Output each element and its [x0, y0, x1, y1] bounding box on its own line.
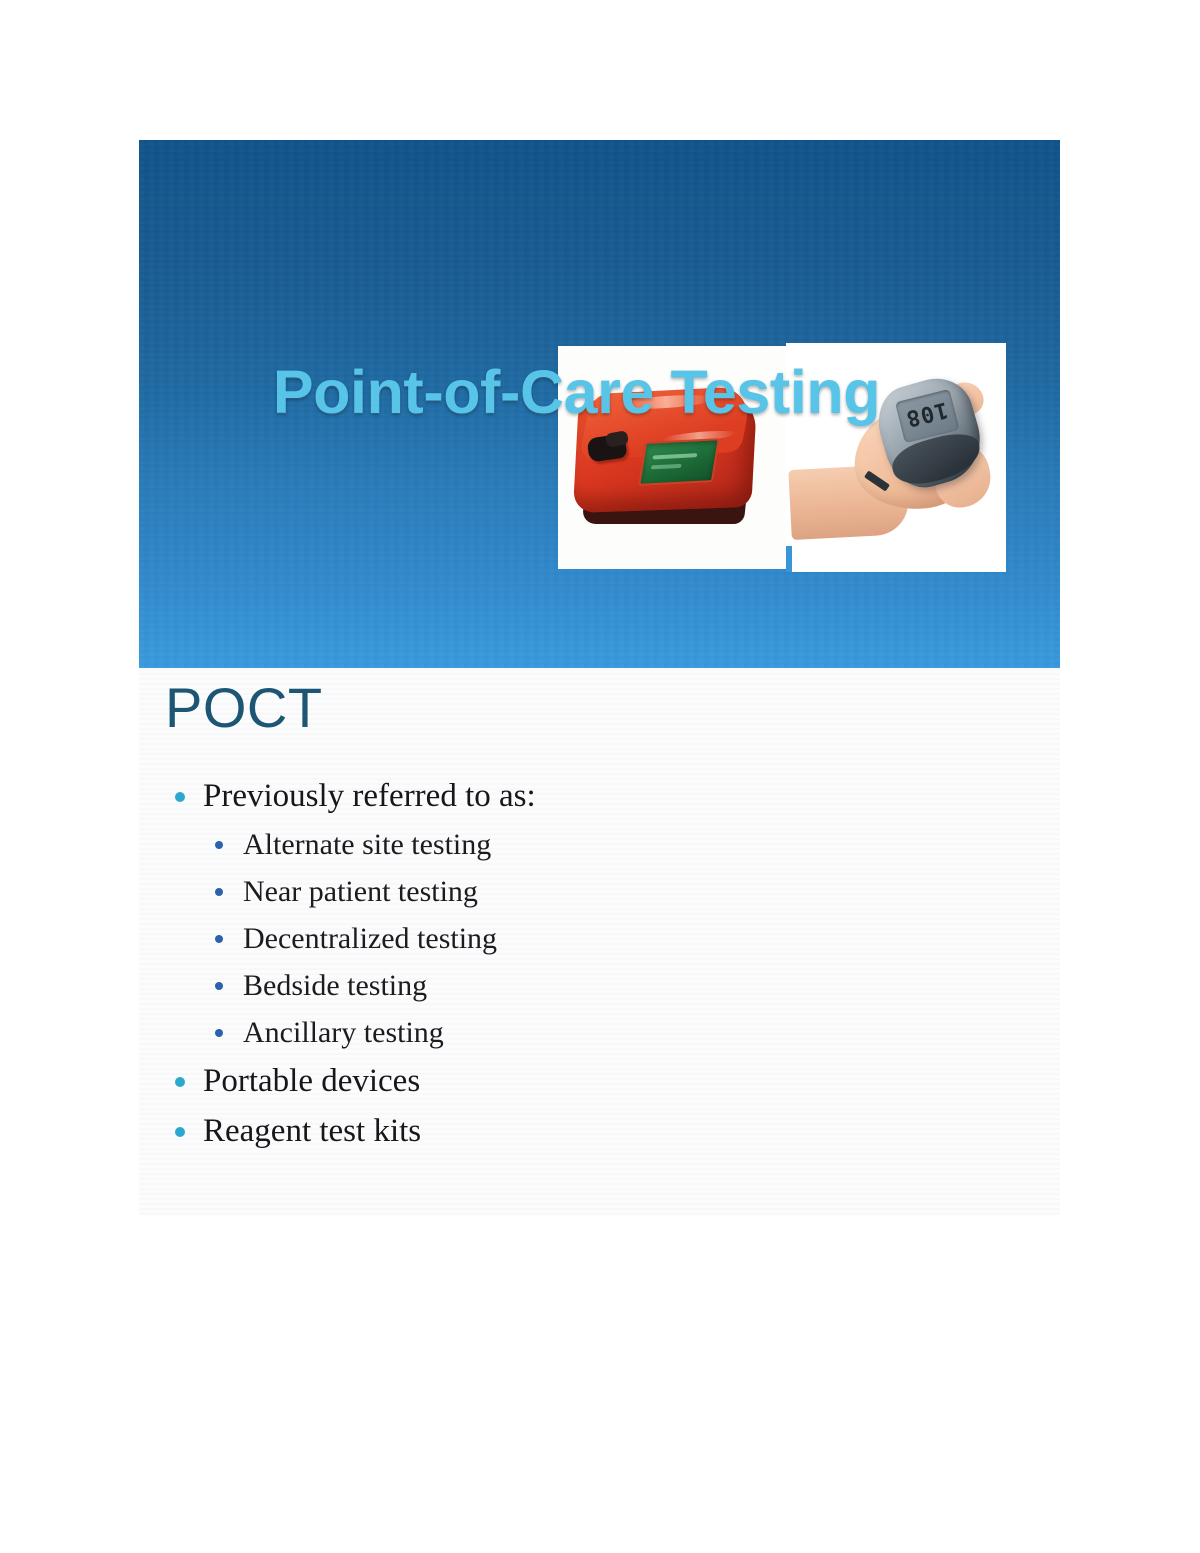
list-item: Previously referred to as:: [165, 771, 1025, 821]
sub-bullet-dot-icon: [215, 982, 223, 990]
list-item-label: Bedside testing: [243, 969, 427, 1002]
bullet-dot-icon: [175, 792, 185, 802]
list-item-label: Near patient testing: [243, 875, 478, 908]
slide: Point-of-Care Testing: [139, 140, 1060, 1215]
slide-body: POCT Previously referred to as: Alternat…: [139, 668, 1060, 1215]
list-item: Near patient testing: [165, 868, 1025, 915]
list-item: Alternate site testing: [165, 821, 1025, 868]
analyzer-lcd-screen: [638, 438, 720, 486]
slide-title: Point-of-Care Testing: [139, 362, 1060, 423]
slide-banner: Point-of-Care Testing: [139, 140, 1060, 668]
list-item-label: Reagent test kits: [203, 1113, 421, 1149]
list-item: Portable devices: [165, 1056, 1025, 1106]
list-item-label: Alternate site testing: [243, 828, 491, 861]
list-item: Bedside testing: [165, 962, 1025, 1009]
list-item: Ancillary testing: [165, 1009, 1025, 1056]
list-item: Reagent test kits: [165, 1106, 1025, 1156]
sub-bullet-dot-icon: [215, 888, 223, 896]
list-item-label: Ancillary testing: [243, 1016, 444, 1049]
bullet-list: Previously referred to as: Alternate sit…: [165, 771, 1025, 1156]
list-item-label: Previously referred to as:: [203, 778, 536, 814]
list-item-label: Portable devices: [203, 1063, 420, 1099]
sub-bullet-dot-icon: [215, 841, 223, 849]
bullet-dot-icon: [175, 1127, 185, 1137]
bullet-dot-icon: [175, 1077, 185, 1087]
list-item-label: Decentralized testing: [243, 922, 497, 955]
sub-bullet-dot-icon: [215, 935, 223, 943]
page-title: POCT: [165, 680, 323, 736]
sub-bullet-list: Alternate site testing Near patient test…: [165, 821, 1025, 1056]
list-item: Decentralized testing: [165, 915, 1025, 962]
sub-bullet-dot-icon: [215, 1029, 223, 1037]
